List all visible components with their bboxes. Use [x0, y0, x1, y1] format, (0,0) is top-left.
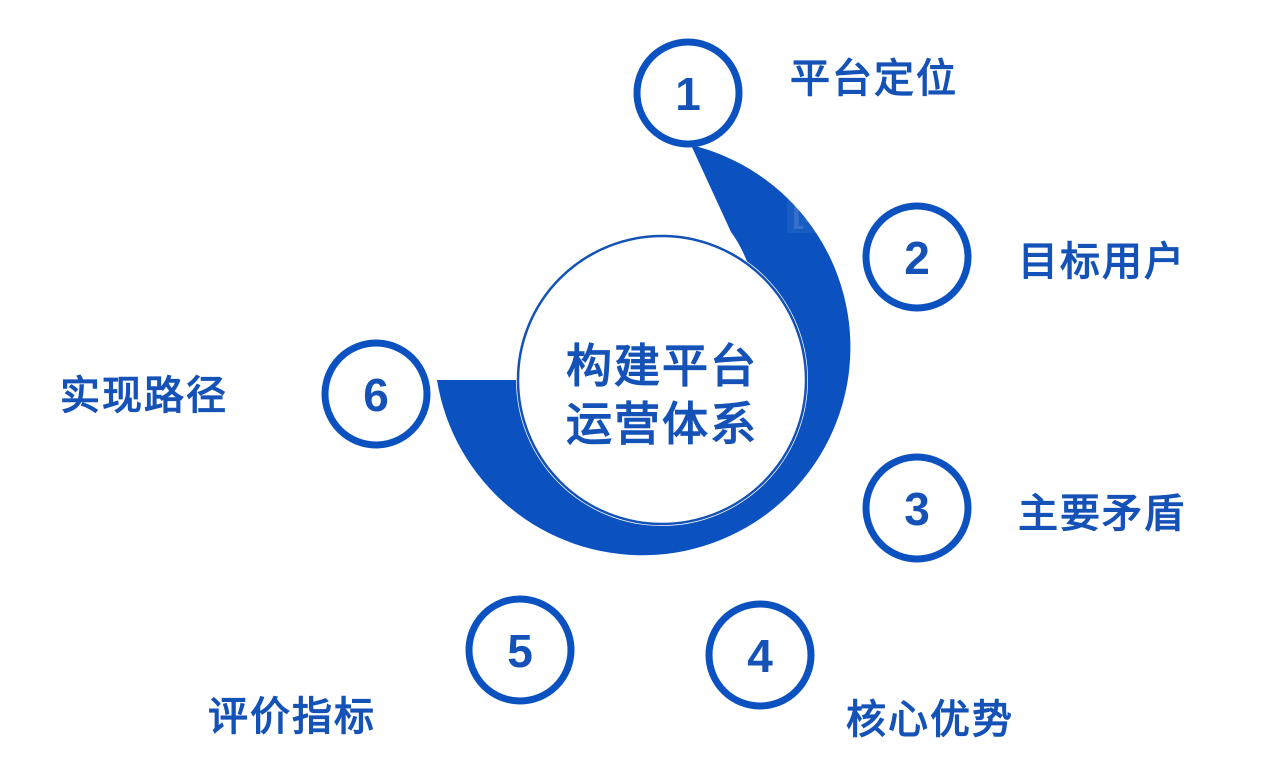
watermark-bottom: [1] [780, 528, 832, 576]
step-node-6[interactable]: 6 实现路径 [60, 343, 427, 445]
watermark-top: [1] [787, 185, 839, 233]
step-number-4: 4 [747, 630, 773, 682]
circular-process-diagram: [1] [1] [1] 构建平台 运营体系 1 平台定位 [0, 0, 1280, 767]
center-label-line1: 构建平台 [566, 340, 758, 392]
step-label-2: 目标用户 [1018, 240, 1186, 284]
step-number-2: 2 [904, 232, 930, 284]
watermark-left: [1] [442, 493, 494, 541]
center-label-line2: 运营体系 [566, 398, 758, 450]
center-hub: 构建平台 运营体系 [516, 234, 808, 526]
step-label-6: 实现路径 [60, 374, 228, 418]
step-node-5[interactable]: 5 评价指标 [208, 599, 571, 739]
step-node-4[interactable]: 4 核心优势 [709, 604, 1014, 742]
step-label-5: 评价指标 [208, 695, 376, 739]
step-node-3[interactable]: 3 主要矛盾 [866, 457, 1186, 559]
step-label-3: 主要矛盾 [1018, 492, 1186, 536]
diagram-canvas: [1] [1] [1] 构建平台 运营体系 1 平台定位 [0, 0, 1280, 767]
step-number-5: 5 [507, 625, 533, 677]
step-number-6: 6 [363, 369, 389, 421]
step-label-1: 平台定位 [790, 57, 958, 101]
step-label-4: 核心优势 [846, 698, 1014, 742]
watermark-glyph: [1] [785, 535, 827, 573]
step-number-1: 1 [675, 68, 701, 120]
step-node-1[interactable]: 1 平台定位 [637, 42, 958, 144]
step-number-3: 3 [904, 483, 930, 535]
watermark-glyph: [1] [447, 500, 489, 538]
step-node-2[interactable]: 2 目标用户 [866, 206, 1186, 308]
watermark-glyph: [1] [792, 192, 834, 230]
